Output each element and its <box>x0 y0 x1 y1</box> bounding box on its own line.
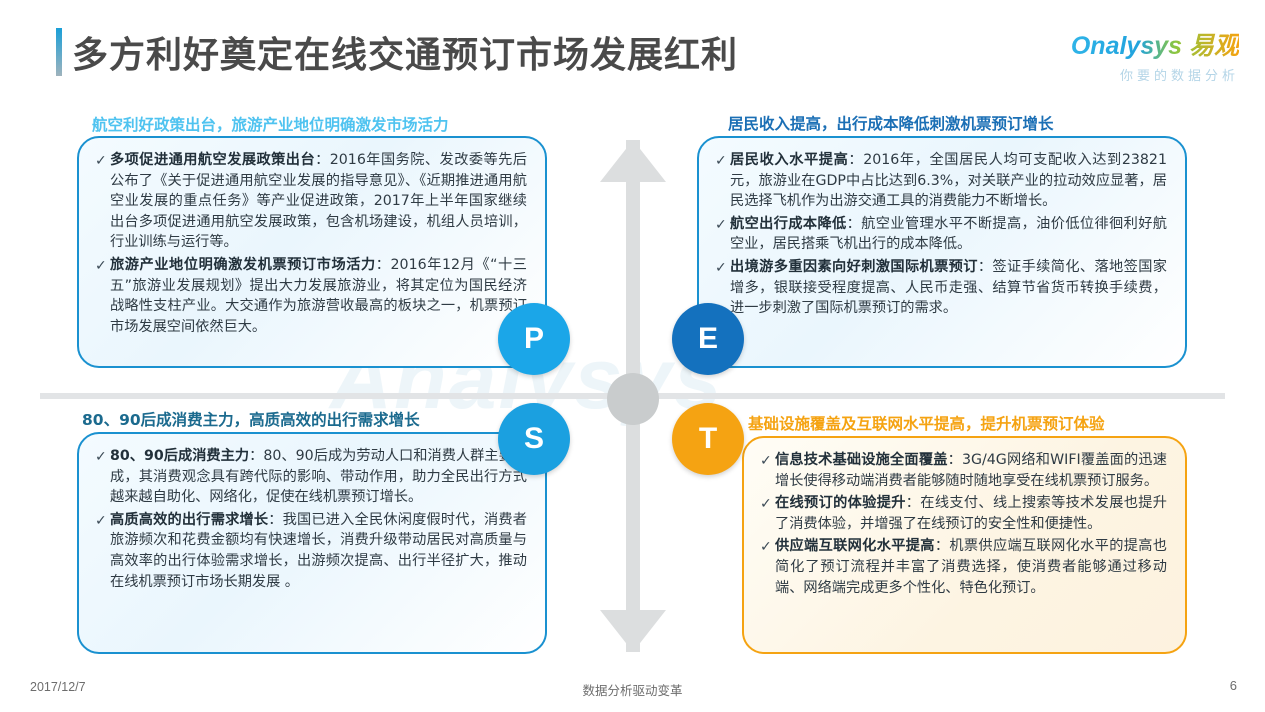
badge-p: P <box>498 303 570 375</box>
quadrant-p-heading: 航空利好政策出台，旅游产业地位明确激发市场活力 <box>92 113 449 135</box>
quadrant-e-heading: 居民收入提高，出行成本降低刺激机票预订增长 <box>728 112 1054 134</box>
axis-center-hub <box>607 373 659 425</box>
bullet-lead: 出境游多重因素向好刺激国际机票预订 <box>730 259 978 275</box>
list-item: ✓ 供应端互联网化水平提高：机票供应端互联网化水平的提高也简化了预订流程并丰富了… <box>760 536 1167 598</box>
footer-slogan: 数据分析驱动变革 <box>0 680 1265 699</box>
page-footer: 2017/12/7 数据分析驱动变革 6 <box>0 672 1265 712</box>
bullet-lead: 居民收入水平提高 <box>730 152 848 168</box>
check-icon: ✓ <box>95 510 110 531</box>
bullet-text: 旅游产业地位明确激发机票预订市场活力：2016年12月《“十三五”旅游业发展规划… <box>110 255 527 337</box>
arrow-up-icon <box>600 140 666 182</box>
badge-t: T <box>672 403 744 475</box>
quadrant-s-box: ✓ 80、90后成消费主力：80、90后成为劳动人口和消费人群主要构成，其消费观… <box>77 432 547 654</box>
check-icon: ✓ <box>715 257 730 278</box>
logo-tagline: 你要的数据分析 <box>1071 65 1239 84</box>
list-item: ✓ 出境游多重因素向好刺激国际机票预订：签证手续简化、落地签国家增多，银联接受程… <box>715 257 1167 319</box>
check-icon: ✓ <box>760 450 775 471</box>
list-item: ✓ 旅游产业地位明确激发机票预订市场活力：2016年12月《“十三五”旅游业发展… <box>95 255 527 337</box>
page-header: 多方利好奠定在线交通预订市场发展红利 Onalysys 易观 你要的数据分析 <box>0 0 1265 98</box>
quadrant-t-box: ✓ 信息技术基础设施全面覆盖：3G/4G网络和WIFI覆盖面的迅速增长使得移动端… <box>742 436 1187 654</box>
list-item: ✓ 高质高效的出行需求增长：我国已进入全民休闲度假时代，消费者旅游频次和花费金额… <box>95 510 527 592</box>
quadrant-p-box: ✓ 多项促进通用航空发展政策出台：2016年国务院、发改委等先后公布了《关于促进… <box>77 136 547 368</box>
bullet-text: 信息技术基础设施全面覆盖：3G/4G网络和WIFI覆盖面的迅速增长使得移动端消费… <box>775 450 1167 491</box>
badge-e: E <box>672 303 744 375</box>
quadrant-e-box: ✓ 居民收入水平提高：2016年，全国居民人均可支配收入达到23821元，旅游业… <box>697 136 1187 368</box>
check-icon: ✓ <box>715 150 730 171</box>
bullet-lead: 旅游产业地位明确激发机票预订市场活力 <box>110 257 376 273</box>
bullet-text: 80、90后成消费主力：80、90后成为劳动人口和消费人群主要构成，其消费观念具… <box>110 446 527 508</box>
check-icon: ✓ <box>760 493 775 514</box>
list-item: ✓ 80、90后成消费主力：80、90后成为劳动人口和消费人群主要构成，其消费观… <box>95 446 527 508</box>
bullet-text: 多项促进通用航空发展政策出台：2016年国务院、发改委等先后公布了《关于促进通用… <box>110 150 527 253</box>
quadrant-s-heading: 80、90后成消费主力，高质高效的出行需求增长 <box>82 408 420 430</box>
bullet-lead: 高质高效的出行需求增长 <box>110 512 268 528</box>
check-icon: ✓ <box>95 150 110 171</box>
bullet-text: 供应端互联网化水平提高：机票供应端互联网化水平的提高也简化了预订流程并丰富了消费… <box>775 536 1167 598</box>
bullet-lead: 多项促进通用航空发展政策出台 <box>110 152 315 168</box>
bullet-text: 在线预订的体验提升：在线支付、线上搜索等技术发展也提升了消费体验，并增强了在线预… <box>775 493 1167 534</box>
bullet-text: 出境游多重因素向好刺激国际机票预订：签证手续简化、落地签国家增多，银联接受程度提… <box>730 257 1167 319</box>
bullet-lead: 航空出行成本降低 <box>730 216 847 232</box>
page-title: 多方利好奠定在线交通预订市场发展红利 <box>72 26 738 78</box>
logo-wordmark: Onalysys 易观 <box>1071 26 1239 62</box>
bullet-text: 高质高效的出行需求增长：我国已进入全民休闲度假时代，消费者旅游频次和花费金额均有… <box>110 510 527 592</box>
list-item: ✓ 信息技术基础设施全面覆盖：3G/4G网络和WIFI覆盖面的迅速增长使得移动端… <box>760 450 1167 491</box>
check-icon: ✓ <box>95 255 110 276</box>
bullet-lead: 信息技术基础设施全面覆盖 <box>775 452 948 468</box>
quadrant-t-heading: 基础设施覆盖及互联网水平提高，提升机票预订体验 <box>748 412 1105 434</box>
check-icon: ✓ <box>760 536 775 557</box>
list-item: ✓ 在线预订的体验提升：在线支付、线上搜索等技术发展也提升了消费体验，并增强了在… <box>760 493 1167 534</box>
list-item: ✓ 多项促进通用航空发展政策出台：2016年国务院、发改委等先后公布了《关于促进… <box>95 150 527 253</box>
bullet-lead: 供应端互联网化水平提高 <box>775 538 935 554</box>
badge-s: S <box>498 403 570 475</box>
list-item: ✓ 居民收入水平提高：2016年，全国居民人均可支配收入达到23821元，旅游业… <box>715 150 1167 212</box>
bullet-lead: 80、90后成消费主力 <box>110 448 249 464</box>
bullet-text: 居民收入水平提高：2016年，全国居民人均可支配收入达到23821元，旅游业在G… <box>730 150 1167 212</box>
bullet-text: 航空出行成本降低：航空业管理水平不断提高，油价低位徘徊利好航空业，居民搭乘飞机出… <box>730 214 1167 255</box>
check-icon: ✓ <box>715 214 730 235</box>
list-item: ✓ 航空出行成本降低：航空业管理水平不断提高，油价低位徘徊利好航空业，居民搭乘飞… <box>715 214 1167 255</box>
title-accent-bar <box>56 28 62 76</box>
bullet-lead: 在线预订的体验提升 <box>775 495 906 511</box>
brand-logo: Onalysys 易观 你要的数据分析 <box>1071 26 1239 84</box>
page-number: 6 <box>1230 678 1237 693</box>
check-icon: ✓ <box>95 446 110 467</box>
arrow-down-icon <box>600 610 666 652</box>
